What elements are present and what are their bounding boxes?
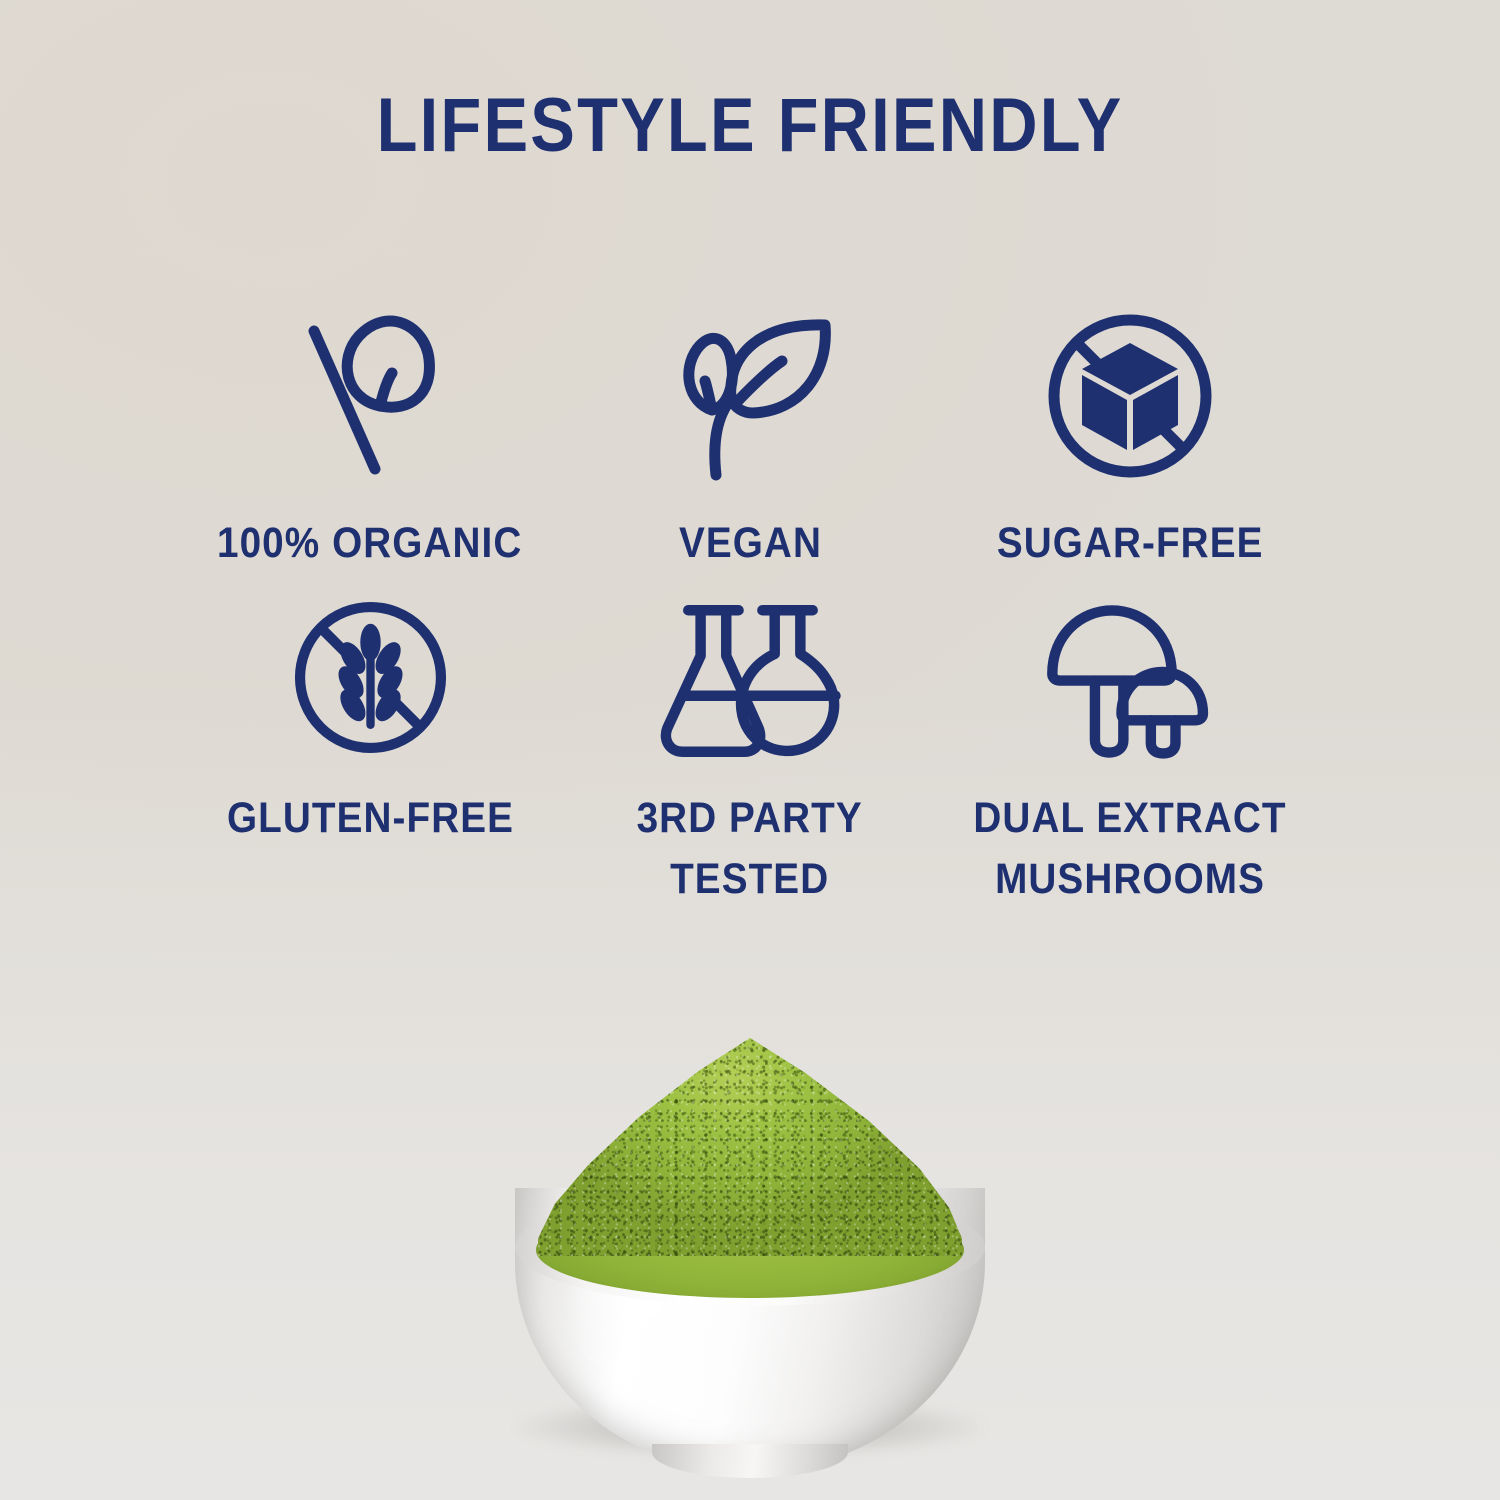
bowl-foot — [652, 1444, 848, 1478]
badge-organic: 100% ORGANIC — [180, 300, 560, 574]
badge-dual-extract-mushrooms: DUAL EXTRACT MUSHROOMS — [940, 600, 1320, 910]
page-title: LIFESTYLE FRIENDLY — [90, 88, 1410, 164]
badge-third-party-tested: 3RD PARTY TESTED — [560, 600, 940, 910]
badge-label: VEGAN — [678, 513, 821, 574]
bowl-of-green-powder — [490, 1020, 1010, 1480]
mushrooms-icon — [1040, 600, 1220, 760]
no-wheat-icon — [288, 600, 453, 760]
badge-label: SUGAR-FREE — [997, 513, 1264, 574]
badge-label: DUAL EXTRACT MUSHROOMS — [973, 788, 1286, 910]
infographic-canvas: LIFESTYLE FRIENDLY 100% ORGANIC — [0, 0, 1500, 1500]
benefit-badge-grid: 100% ORGANIC VEGAN — [180, 300, 1320, 930]
badge-label: GLUTEN-FREE — [226, 788, 513, 849]
product-photo — [0, 1020, 1500, 1500]
badge-sugar-free: SUGAR-FREE — [940, 300, 1320, 574]
badge-label: 100% ORGANIC — [217, 513, 522, 574]
lab-flasks-icon — [655, 600, 845, 760]
badge-vegan: VEGAN — [560, 300, 940, 574]
two-leaves-icon — [655, 300, 845, 485]
no-sugar-cube-icon — [1041, 300, 1219, 485]
leaf-sprout-icon — [283, 300, 458, 485]
badge-label: 3RD PARTY TESTED — [637, 788, 863, 910]
powder-mound-front — [538, 1038, 962, 1256]
badge-gluten-free: GLUTEN-FREE — [180, 600, 560, 849]
